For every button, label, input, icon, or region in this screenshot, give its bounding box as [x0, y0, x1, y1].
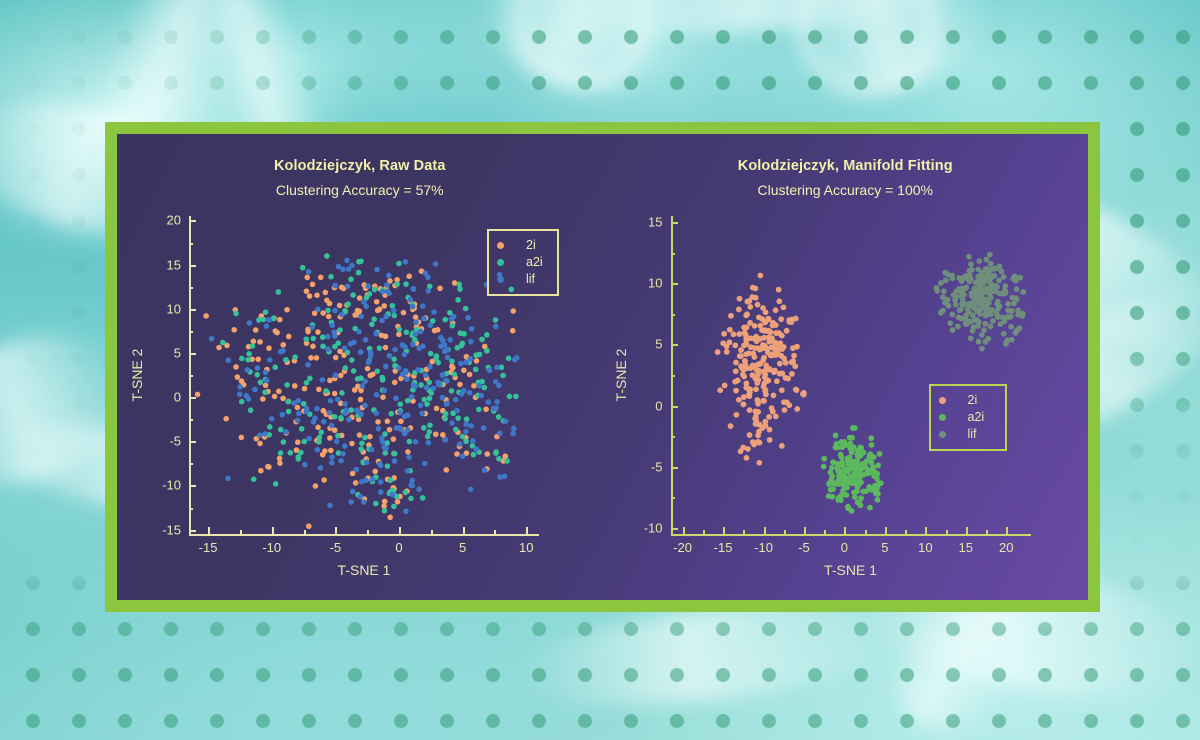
scatter-point	[438, 335, 444, 341]
scatter-point	[301, 401, 307, 407]
panel-title-right: Kolodziejczyk, Manifold Fitting	[603, 158, 1089, 174]
scatter-point	[374, 392, 380, 398]
scatter-point	[413, 314, 419, 320]
x-tick-label: 0	[395, 540, 402, 555]
scatter-point	[343, 365, 349, 371]
scatter-point	[460, 341, 466, 347]
scatter-point	[427, 396, 433, 402]
scatter-point	[743, 341, 749, 347]
scatter-point	[971, 305, 977, 311]
scatter-point	[306, 269, 312, 275]
scatter-point	[790, 345, 796, 351]
scatter-point	[423, 270, 429, 276]
scatter-point	[753, 386, 759, 392]
scatter-point	[754, 302, 760, 308]
y-tick-label: 5	[174, 345, 181, 360]
scatter-point	[280, 412, 286, 418]
scatter-point	[772, 414, 778, 420]
scatter-point	[267, 357, 273, 363]
scatter-point	[345, 301, 351, 307]
scatter-point	[358, 397, 364, 403]
scatter-point	[837, 452, 843, 458]
scatter-point	[316, 439, 322, 445]
scatter-point	[761, 398, 767, 404]
scatter-point	[342, 401, 348, 407]
scatter-point	[266, 345, 272, 351]
scatter-point	[745, 392, 751, 398]
scatter-point	[410, 342, 416, 348]
scatter-point	[387, 353, 393, 359]
scatter-point	[283, 429, 289, 435]
scatter-point	[742, 332, 748, 338]
scatter-point	[955, 314, 961, 320]
scatter-point	[786, 317, 792, 323]
scatter-point	[759, 346, 765, 352]
scatter-point	[766, 437, 772, 443]
scatter-point	[329, 454, 335, 460]
scatter-point	[324, 298, 330, 304]
scatter-point	[398, 401, 404, 407]
scatter-point	[993, 310, 999, 316]
scatter-point	[426, 440, 432, 446]
scatter-point	[321, 477, 327, 483]
scatter-point	[949, 327, 955, 333]
y-tick-label: -10	[644, 520, 663, 535]
scatter-point	[776, 298, 782, 304]
scatter-point	[783, 328, 789, 334]
scatter-point	[225, 476, 231, 482]
scatter-point	[383, 345, 389, 351]
scatter-point	[291, 400, 297, 406]
scatter-point	[383, 333, 389, 339]
scatter-point	[494, 365, 500, 371]
scatter-point	[493, 405, 499, 411]
x-axis-line	[189, 534, 539, 536]
scatter-point	[306, 523, 312, 529]
scatter-point	[958, 276, 964, 282]
scatter-point	[846, 435, 852, 441]
scatter-point	[780, 304, 786, 310]
scatter-point	[473, 446, 479, 452]
scatter-point	[362, 378, 368, 384]
scatter-point	[449, 420, 455, 426]
scatter-point	[985, 336, 991, 342]
scatter-point	[742, 358, 748, 364]
scatter-point	[348, 341, 354, 347]
scatter-point	[409, 394, 415, 400]
scatter-point	[434, 353, 440, 359]
y-tick-label: 0	[174, 390, 181, 405]
scatter-point	[949, 312, 955, 318]
scatter-point	[428, 322, 434, 328]
scatter-point	[460, 434, 466, 440]
y-tick-label: -15	[162, 522, 181, 537]
scatter-point	[295, 439, 301, 445]
scatter-point	[363, 337, 369, 343]
scatter-point	[1013, 286, 1019, 292]
scatter-point	[421, 316, 427, 322]
scatter-point	[860, 489, 866, 495]
scatter-point	[391, 356, 397, 362]
scatter-point	[959, 297, 965, 303]
scatter-point	[336, 264, 342, 270]
scatter-point	[990, 284, 996, 290]
scatter-point	[514, 355, 520, 361]
scatter-point	[467, 390, 473, 396]
scatter-point	[1000, 291, 1006, 297]
scatter-point	[494, 399, 500, 405]
scatter-point	[858, 445, 864, 451]
scatter-point	[370, 477, 376, 483]
scatter-point	[262, 431, 268, 437]
scatter-point	[470, 438, 476, 444]
scatter-point	[355, 308, 361, 314]
scatter-point	[482, 467, 488, 473]
scatter-point	[770, 392, 776, 398]
scatter-point	[460, 454, 466, 460]
scatter-point	[1016, 325, 1022, 331]
scatter-point	[372, 469, 378, 475]
legend-item-lif[interactable]: lif	[497, 271, 547, 288]
scatter-point	[726, 327, 732, 333]
scatter-point	[376, 426, 382, 432]
scatter-point	[359, 383, 365, 389]
scatter-point	[365, 283, 371, 289]
scatter-point	[264, 378, 270, 384]
scatter-point	[479, 337, 485, 343]
scatter-point	[500, 373, 506, 379]
y-tick-label: -5	[169, 434, 181, 449]
scatter-point	[313, 483, 319, 489]
scatter-point	[391, 313, 397, 319]
scatter-point	[778, 316, 784, 322]
scatter-point	[304, 275, 310, 281]
scatter-point	[493, 324, 499, 330]
scatter-point	[420, 495, 426, 501]
scatter-point	[332, 283, 338, 289]
scatter-point	[997, 321, 1003, 327]
scatter-point	[979, 270, 985, 276]
scatter-point	[463, 439, 469, 445]
scatter-point	[392, 380, 398, 386]
x-axis-title-left: T-SNE 1	[338, 562, 391, 578]
legend-right[interactable]: 2i a2i lif	[929, 384, 1007, 451]
scatter-point	[404, 376, 410, 382]
scatter-point	[842, 483, 848, 489]
scatter-point	[422, 461, 428, 467]
scatter-point	[852, 494, 858, 500]
scatter-point	[942, 270, 948, 276]
y-tick-label: 10	[648, 276, 662, 291]
scatter-point	[733, 360, 739, 366]
scatter-point	[345, 283, 351, 289]
scatter-point	[344, 407, 350, 413]
y-axis-title-left: T-SNE 2	[129, 349, 145, 402]
scatter-point	[278, 427, 284, 433]
scatter-point	[752, 345, 758, 351]
scatter-point	[301, 439, 307, 445]
scatter-point	[752, 421, 758, 427]
scatter-point	[332, 391, 338, 397]
scatter-point	[233, 311, 239, 317]
scatter-point	[303, 336, 309, 342]
scatter-point	[391, 308, 397, 314]
scatter-point	[304, 380, 310, 386]
scatter-point	[772, 307, 778, 313]
scatter-point	[440, 372, 446, 378]
scatter-point	[471, 383, 477, 389]
scatter-point	[356, 270, 362, 276]
scatter-point	[195, 392, 201, 398]
scatter-point	[755, 409, 761, 415]
scatter-point	[273, 328, 279, 334]
scatter-point	[778, 387, 784, 393]
scatter-point	[720, 340, 726, 346]
scatter-point	[295, 418, 301, 424]
scatter-point	[391, 504, 397, 510]
scatter-point	[432, 328, 438, 334]
scatter-point	[418, 329, 424, 335]
scatter-point	[751, 323, 757, 329]
scatter-point	[867, 451, 873, 457]
scatter-point	[443, 411, 449, 417]
x-tick-label: -10	[262, 540, 281, 555]
scatter-point	[845, 462, 851, 468]
scatter-point	[418, 382, 424, 388]
scatter-point	[272, 364, 278, 370]
scatter-point	[339, 312, 345, 318]
scatter-point	[379, 435, 385, 441]
scatter-point	[752, 415, 758, 421]
scatter-point	[493, 317, 499, 323]
scatter-point	[307, 293, 313, 299]
scatter-point	[511, 426, 517, 432]
scatter-point	[755, 433, 761, 439]
scatter-point	[476, 407, 482, 413]
scatter-point	[225, 357, 231, 363]
legend-left[interactable]: 2i a2i lif	[487, 229, 559, 296]
scatter-point	[854, 499, 860, 505]
scatter-point	[468, 487, 474, 493]
legend-item-a2i[interactable]: a2i	[939, 409, 995, 426]
scatter-point	[443, 378, 449, 384]
scatter-point	[746, 407, 752, 413]
scatter-point	[496, 456, 502, 462]
scatter-point	[395, 499, 401, 505]
scatter-point	[365, 366, 371, 372]
scatter-point	[315, 329, 321, 335]
scatter-point	[250, 343, 256, 349]
scatter-point	[305, 362, 311, 368]
scatter-point	[756, 440, 762, 446]
scatter-point	[973, 317, 979, 323]
scatter-point	[371, 316, 377, 322]
scatter-point	[346, 266, 352, 272]
scatter-point	[1000, 274, 1006, 280]
scatter-point	[385, 419, 391, 425]
scatter-point	[404, 329, 410, 335]
scatter-point	[316, 387, 322, 393]
scatter-point	[328, 274, 334, 280]
scatter-point	[394, 425, 400, 431]
plot-area-right[interactable]: -20-15-10-505101520151050-5-10	[671, 216, 1031, 534]
x-tick-label: 10	[519, 540, 533, 555]
scatter-point	[373, 501, 379, 507]
scatter-point	[392, 458, 398, 464]
scatter-point	[800, 392, 806, 398]
scatter-point	[402, 431, 408, 437]
scatter-point	[769, 353, 775, 359]
x-tick-label: 10	[918, 540, 932, 555]
scatter-point	[987, 324, 993, 330]
scatter-point	[374, 410, 380, 416]
y-tick-label: 10	[167, 301, 181, 316]
scatter-point	[292, 383, 298, 389]
scatter-point	[449, 363, 455, 369]
scatter-point	[337, 349, 343, 355]
scatter-point	[847, 442, 853, 448]
legend-item-2i[interactable]: 2i	[497, 237, 547, 254]
scatter-point	[421, 425, 427, 431]
scatter-point	[320, 310, 326, 316]
scatter-point	[403, 508, 409, 514]
scatter-point	[756, 314, 762, 320]
x-tick-label: 15	[959, 540, 973, 555]
scatter-point	[868, 435, 874, 441]
scatter-point	[463, 429, 469, 435]
scatter-point	[769, 409, 775, 415]
scatter-point	[433, 431, 439, 437]
scatter-point	[406, 273, 412, 279]
scatter-point	[420, 303, 426, 309]
scatter-point	[794, 406, 800, 412]
scatter-point	[958, 286, 964, 292]
scatter-point	[358, 446, 364, 452]
scatter-point	[401, 310, 407, 316]
scatter-point	[239, 356, 245, 362]
scatter-point	[874, 484, 880, 490]
scatter-point	[337, 327, 343, 333]
scatter-point	[453, 397, 459, 403]
scatter-point	[449, 358, 455, 364]
scatter-point	[255, 365, 261, 371]
scatter-point	[329, 423, 335, 429]
scatter-point	[253, 327, 259, 333]
scatter-point	[875, 463, 881, 469]
scatter-point	[368, 353, 374, 359]
scatter-point	[714, 349, 720, 355]
scatter-point	[766, 367, 772, 373]
legend-label-2i: 2i	[968, 394, 978, 407]
scatter-point	[987, 261, 993, 267]
scatter-point	[445, 355, 451, 361]
scatter-point	[257, 433, 263, 439]
scatter-point	[377, 306, 383, 312]
scatter-point	[427, 422, 433, 428]
scatter-point	[276, 289, 282, 295]
legend-item-lif[interactable]: lif	[939, 426, 995, 443]
scatter-point	[263, 309, 269, 315]
scatter-point	[251, 339, 257, 345]
scatter-point	[442, 342, 448, 348]
scatter-point	[231, 327, 237, 333]
scatter-point	[453, 427, 459, 433]
scatter-point	[503, 418, 509, 424]
scatter-point	[402, 414, 408, 420]
scatter-point	[266, 464, 272, 470]
scatter-point	[383, 314, 389, 320]
scatter-point	[764, 328, 770, 334]
scatter-point	[851, 474, 857, 480]
x-tick-label: -5	[798, 540, 810, 555]
scatter-point	[252, 387, 258, 393]
scatter-point	[366, 359, 372, 365]
scatter-point	[949, 275, 955, 281]
scatter-point	[726, 339, 732, 345]
scatter-point	[384, 282, 390, 288]
scatter-point	[408, 496, 414, 502]
screenshot-stage: Kolodziejczyk, Raw Data Clustering Accur…	[0, 0, 1200, 740]
legend-item-a2i[interactable]: a2i	[497, 254, 547, 271]
scatter-point	[379, 318, 385, 324]
scatter-point	[486, 399, 492, 405]
scatter-point	[280, 396, 286, 402]
scatter-point	[427, 364, 433, 370]
scatter-point	[239, 399, 245, 405]
scatter-point	[473, 367, 479, 373]
scatter-point	[300, 265, 306, 271]
scatter-point	[792, 363, 798, 369]
scatter-point	[405, 449, 411, 455]
scatter-point	[493, 449, 499, 455]
legend-item-2i[interactable]: 2i	[939, 392, 995, 409]
scatter-point	[792, 316, 798, 322]
y-tick-label: 15	[648, 215, 662, 230]
legend-label-lif: lif	[526, 273, 535, 286]
scatter-point	[362, 403, 368, 409]
y-tick-label: 5	[655, 337, 662, 352]
scatter-point	[380, 289, 386, 295]
scatter-point	[332, 414, 338, 420]
scatter-point	[451, 314, 457, 320]
scatter-point	[239, 435, 245, 441]
scatter-point	[257, 339, 263, 345]
scatter-point	[310, 336, 316, 342]
x-tick-label: -15	[714, 540, 733, 555]
scatter-point	[397, 410, 403, 416]
scatter-point	[409, 478, 415, 484]
scatter-point	[373, 331, 379, 337]
scatter-point	[1000, 331, 1006, 337]
scatter-point	[367, 434, 373, 440]
scatter-point	[953, 294, 959, 300]
scatter-point	[363, 478, 369, 484]
scatter-point	[258, 468, 264, 474]
y-tick-label: 0	[655, 398, 662, 413]
scatter-point	[458, 361, 464, 367]
scatter-point	[423, 372, 429, 378]
scatter-point	[339, 390, 345, 396]
scatter-point	[335, 340, 341, 346]
scatter-point	[1008, 337, 1014, 343]
scatter-point	[744, 311, 750, 317]
scatter-point	[283, 357, 289, 363]
x-axis-line	[671, 534, 1031, 536]
scatter-point	[323, 388, 329, 394]
scatter-point	[821, 456, 827, 462]
scatter-point	[255, 356, 261, 362]
scatter-point	[374, 299, 380, 305]
